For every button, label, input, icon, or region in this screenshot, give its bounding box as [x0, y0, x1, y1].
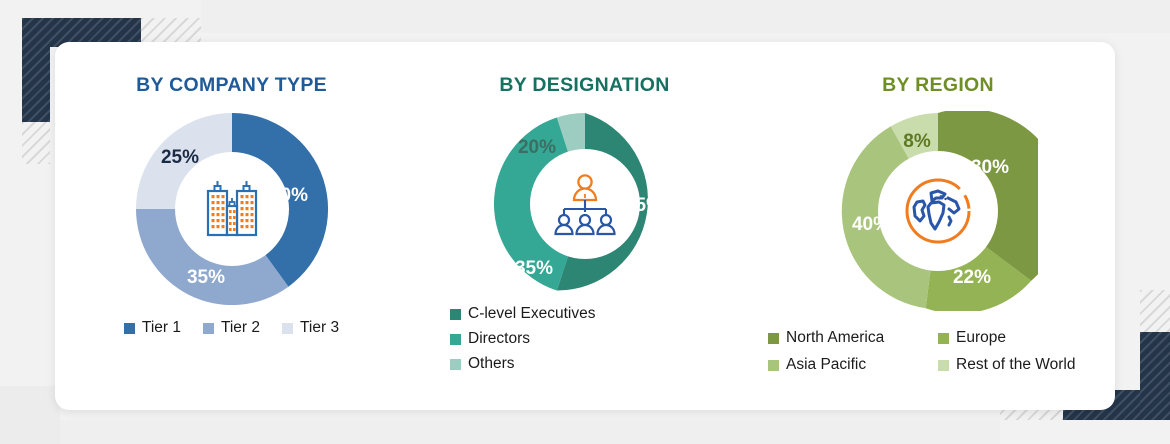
legend-swatch-others [450, 359, 461, 370]
legend-item-tier-2[interactable]: Tier 2 [203, 319, 260, 337]
legend-item-directors[interactable]: Directors [450, 330, 530, 348]
decor-bottom-left-box [0, 386, 60, 444]
slice-label-others: 20% [517, 137, 555, 158]
slice-label-rest-of-the-world: 8% [903, 131, 931, 152]
legend-label-europe: Europe [956, 329, 1006, 347]
slice-label-directors: 35% [514, 258, 552, 279]
buildings-icon [196, 173, 268, 245]
chart-panel-region: BY REGION 30% 22% 40% 8% [761, 42, 1115, 410]
decor-hatch-top-left-vertical [22, 122, 50, 164]
slice-label-tier-2: 35% [186, 267, 224, 288]
chart-panel-company-type: BY COMPANY TYPE 40% 35% 25% [55, 42, 408, 410]
decor-hatch-bottom-right-vertical [1140, 290, 1170, 332]
legend-item-others[interactable]: Others [450, 355, 515, 373]
slice-label-asia-pacific: 40% [852, 214, 890, 235]
legend-swatch-rest-of-the-world [938, 360, 949, 371]
slice-label-tier-3: 25% [160, 147, 198, 168]
legend-item-europe[interactable]: Europe [938, 329, 1108, 347]
legend-swatch-north-america [768, 333, 779, 344]
donut-chart-region: 30% 22% 40% 8% [838, 111, 1038, 311]
legend-label-others: Others [468, 355, 515, 373]
legend-item-tier-3[interactable]: Tier 3 [282, 319, 339, 337]
legend-company-type: Tier 1 Tier 2 Tier 3 [55, 319, 408, 337]
legend-swatch-europe [938, 333, 949, 344]
panel-title-region: BY REGION [761, 74, 1115, 97]
legend-label-tier-1: Tier 1 [142, 319, 181, 337]
slice-label-tier-1: 40% [269, 185, 307, 206]
donut-chart-designation: 45% 35% 20% [492, 111, 678, 297]
legend-label-tier-3: Tier 3 [300, 319, 339, 337]
legend-item-tier-1[interactable]: Tier 1 [124, 319, 181, 337]
slice-label-c-level-executives: 45% [624, 195, 662, 216]
chart-panel-designation: BY DESIGNATION 45% 35% 20% [408, 42, 761, 410]
legend-label-c-level-executives: C-level Executives [468, 305, 596, 323]
decor-navy-top-left-vertical [22, 18, 50, 122]
legend-item-asia-pacific[interactable]: Asia Pacific [768, 356, 938, 374]
legend-swatch-tier-1 [124, 323, 135, 334]
legend-swatch-asia-pacific [768, 360, 779, 371]
legend-label-asia-pacific: Asia Pacific [786, 356, 866, 374]
legend-designation: C-level Executives Directors Others [408, 305, 761, 373]
donut-chart-company-type: 40% 35% 25% [134, 111, 330, 307]
org-chart-icon [550, 169, 620, 239]
panel-title-designation: BY DESIGNATION [408, 74, 761, 97]
decor-bottom-band [0, 420, 1000, 444]
legend-item-rest-of-the-world[interactable]: Rest of the World [938, 356, 1108, 374]
legend-region: North America Europe Asia Pacific Rest o… [768, 329, 1108, 374]
decor-navy-bottom-right-vertical [1140, 332, 1170, 420]
legend-label-north-america: North America [786, 329, 884, 347]
legend-swatch-directors [450, 334, 461, 345]
globe-icon [898, 171, 978, 251]
legend-label-directors: Directors [468, 330, 530, 348]
legend-item-north-america[interactable]: North America [768, 329, 938, 347]
legend-label-rest-of-the-world: Rest of the World [956, 356, 1075, 374]
decor-top-band [201, 0, 1170, 33]
infographic-card: BY COMPANY TYPE 40% 35% 25% [55, 42, 1115, 410]
panel-title-company-type: BY COMPANY TYPE [55, 74, 408, 97]
legend-swatch-tier-3 [282, 323, 293, 334]
legend-swatch-c-level-executives [450, 309, 461, 320]
legend-item-c-level-executives[interactable]: C-level Executives [450, 305, 596, 323]
legend-label-tier-2: Tier 2 [221, 319, 260, 337]
legend-swatch-tier-2 [203, 323, 214, 334]
slice-label-europe: 22% [953, 267, 991, 288]
